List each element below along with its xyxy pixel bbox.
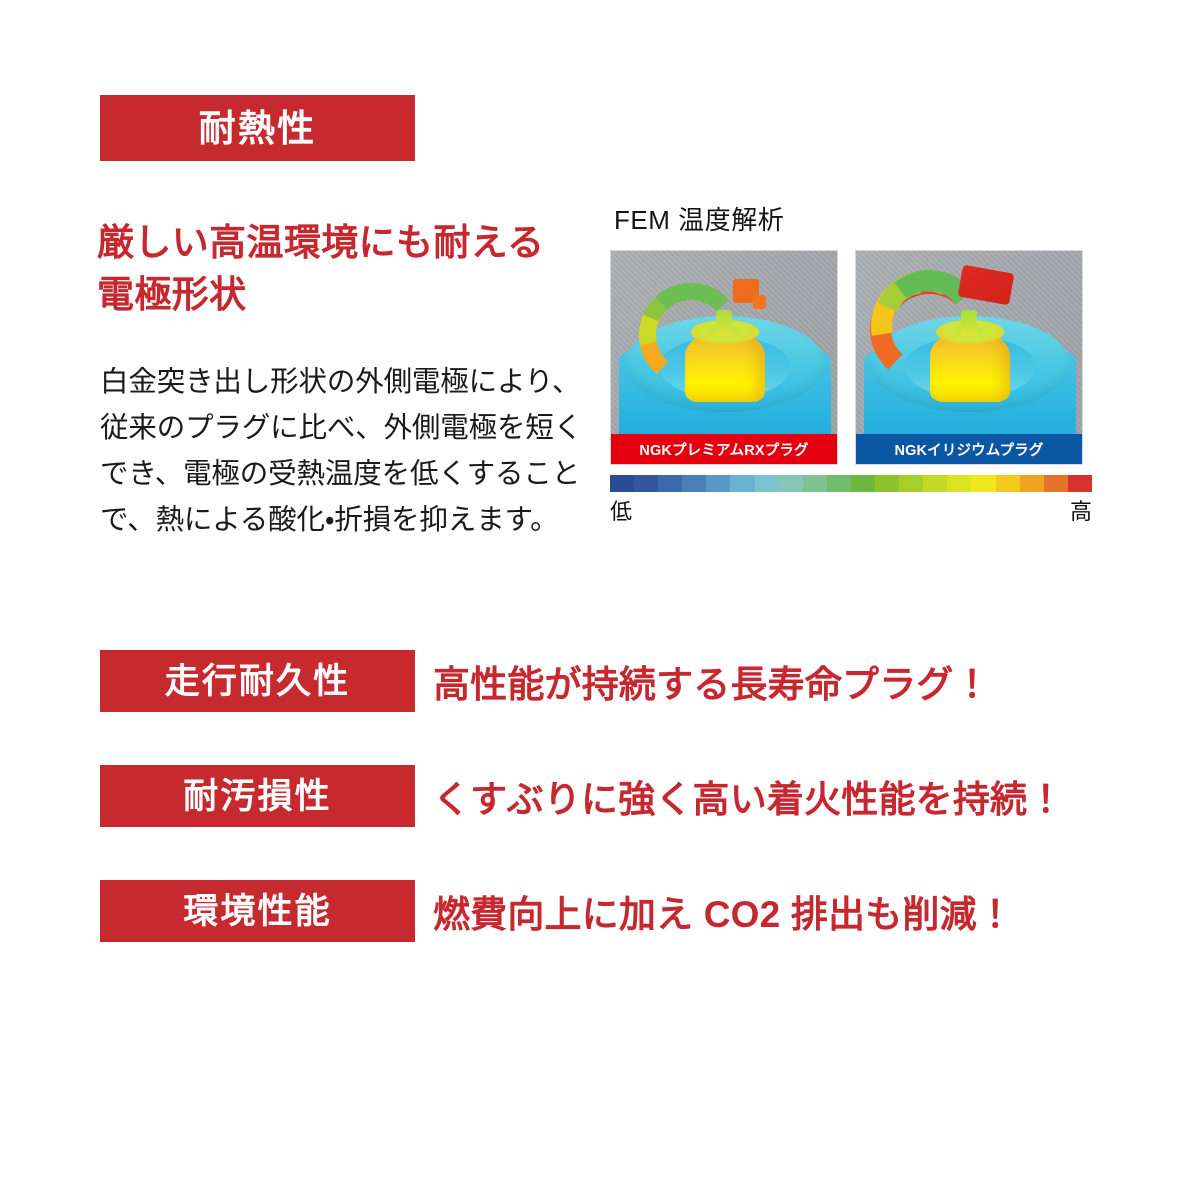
- feature-row-durability: 走行耐久性 高性能が持続する長寿命プラグ！: [100, 650, 1100, 712]
- feature-badge-label: 走行耐久性: [165, 664, 351, 699]
- fem-scale-swatch-14: [947, 475, 971, 492]
- fem-panel-label-text: NGKプレミアムRXプラグ: [639, 439, 808, 460]
- feature-row-environmental: 環境性能 燃費向上に加え CO2 排出も削減！: [100, 880, 1100, 942]
- heat-resistance-heading: 厳しい高温環境にも耐える 電極形状: [97, 217, 597, 322]
- feature-text-environmental: 燃費向上に加え CO2 排出も削減！: [433, 884, 1014, 938]
- heat-body-line-4: で、熱による酸化・折損を抑えます。: [100, 504, 558, 536]
- fem-panel-iridium: NGKイリジウムプラグ: [855, 250, 1083, 465]
- heat-body-line-2: 従来のプラグに比べ、外側電極を短く: [100, 412, 582, 444]
- feature-row-fouling-resistance: 耐汚損性 くすぶりに強く高い着火性能を持続！: [100, 765, 1100, 827]
- fem-panel-premium-rx: NGKプレミアムRXプラグ: [610, 250, 838, 465]
- feature-badge-fouling-resistance: 耐汚損性: [100, 765, 415, 827]
- fem-scale-swatch-15: [971, 475, 995, 492]
- electrode-platinum-tip: [753, 295, 766, 309]
- fem-analysis-title: FEM 温度解析: [614, 200, 1092, 237]
- fem-scale-swatch-17: [1020, 475, 1044, 492]
- fem-scale-swatch-13: [923, 475, 947, 492]
- feature-list: 走行耐久性 高性能が持続する長寿命プラグ！ 耐汚損性 くすぶりに強く高い着火性能…: [100, 650, 1100, 995]
- fem-scale-swatch-10: [851, 475, 875, 492]
- fem-scale-swatch-6: [755, 475, 779, 492]
- fem-scale-swatch-2: [658, 475, 682, 492]
- fem-panel-label-iridium: NGKイリジウムプラグ: [856, 434, 1082, 464]
- fem-scale-swatch-7: [779, 475, 803, 492]
- feature-text-fouling-resistance: くすぶりに強く高い着火性能を持続！: [433, 769, 1064, 823]
- fem-scale-swatch-8: [803, 475, 827, 492]
- heat-resistance-badge-label: 耐熱性: [199, 110, 317, 147]
- fem-scale-swatch-0: [610, 475, 634, 492]
- heat-body-line-1: 白金突き出し形状の外側電極により、: [100, 366, 580, 398]
- fem-scale-swatch-4: [706, 475, 730, 492]
- fem-panel-label-text: NGKイリジウムプラグ: [895, 439, 1044, 460]
- fem-panel-group: NGKプレミアムRXプラグ NGKイリジウムプ: [610, 250, 1092, 465]
- electrode-band: [637, 281, 745, 389]
- fem-scale-high-label: 高: [1070, 494, 1092, 526]
- fem-scale-swatch-1: [634, 475, 658, 492]
- fem-scale-swatch-19: [1068, 475, 1092, 492]
- fem-panel-label-premium-rx: NGKプレミアムRXプラグ: [611, 434, 837, 464]
- fem-scale-swatch-5: [730, 475, 754, 492]
- feature-badge-label: 耐汚損性: [183, 779, 331, 814]
- heat-heading-line-2: 電極形状: [97, 274, 246, 315]
- heat-heading-line-1: 厳しい高温環境にも耐える: [97, 222, 544, 263]
- heat-resistance-body: 白金突き出し形状の外側電極により、 従来のプラグに比べ、外側電極を短く でき、電…: [100, 359, 592, 544]
- feature-badge-label: 環境性能: [183, 894, 331, 929]
- heat-body-line-3: でき、電極の受熱温度を低くすること: [100, 458, 580, 490]
- fem-scale-swatch-11: [875, 475, 899, 492]
- ground-electrode-premium-rx: [639, 283, 743, 387]
- fem-scale-labels: 低 高: [610, 494, 1092, 526]
- fem-analysis-figure: FEM 温度解析 NGKプレミアムRXプラグ: [610, 200, 1092, 526]
- fem-scale-swatch-18: [1044, 475, 1068, 492]
- fem-scale-swatch-9: [827, 475, 851, 492]
- fem-scale-swatch-12: [899, 475, 923, 492]
- fem-scale-swatch-3: [682, 475, 706, 492]
- feature-badge-environmental: 環境性能: [100, 880, 415, 942]
- heat-resistance-badge: 耐熱性: [100, 95, 415, 161]
- fem-scale-swatch-16: [996, 475, 1020, 492]
- fem-temperature-scale: 低 高: [610, 475, 1092, 526]
- fem-scale-colorbar: [610, 475, 1092, 492]
- fem-scale-low-label: 低: [610, 494, 632, 526]
- feature-badge-durability: 走行耐久性: [100, 650, 415, 712]
- heat-resistance-section: 耐熱性 厳しい高温環境にも耐える 電極形状 白金突き出し形状の外側電極により、 …: [0, 0, 1200, 600]
- feature-text-durability: 高性能が持続する長寿命プラグ！: [433, 654, 991, 708]
